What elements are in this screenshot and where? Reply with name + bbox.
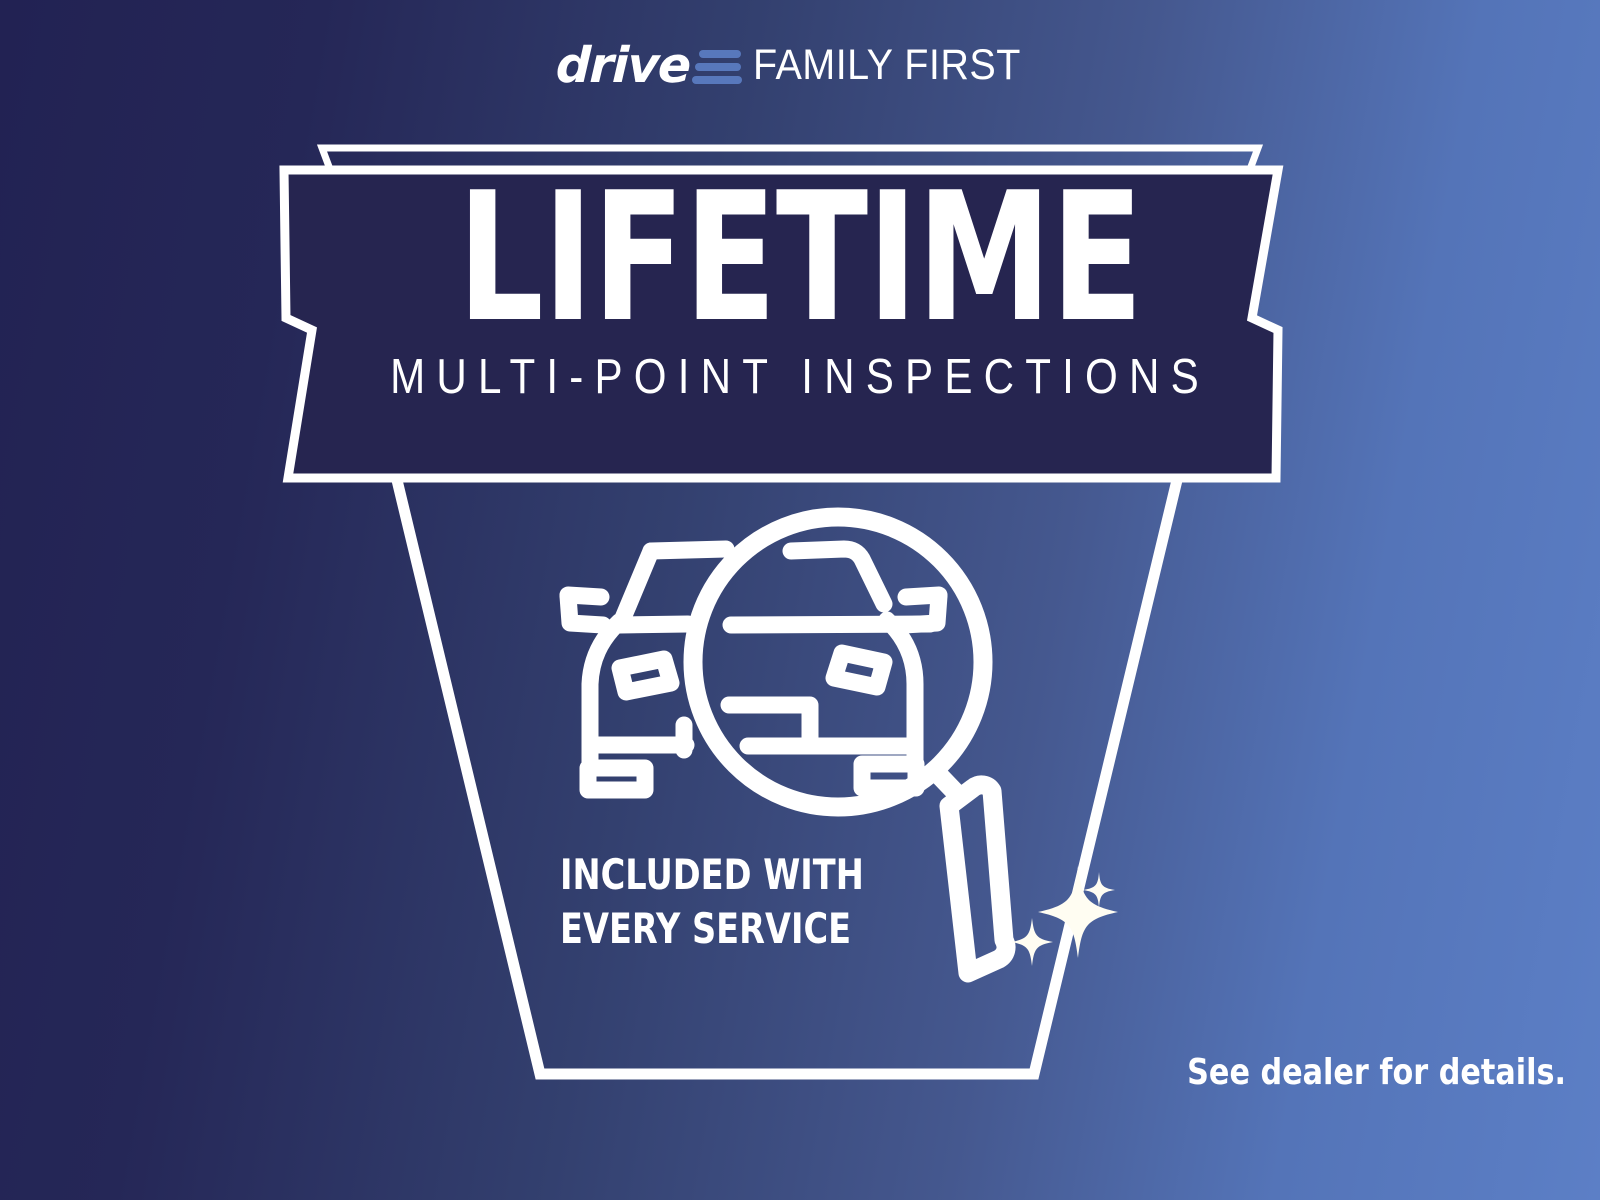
sparkle-large [1038,866,1118,958]
poster-artwork [0,0,1600,1200]
foreground-car-icon [729,549,939,788]
poster-canvas: drive FAMILY FIRST [0,0,1600,1200]
badge-caption: INCLUDED WITH EVERY SERVICE [560,848,864,956]
magnifier-grip-icon [949,785,1006,973]
disclaimer-text: See dealer for details. [1187,1052,1566,1093]
sparkle-small-left [1011,918,1053,966]
banner-ribbon [284,170,1278,478]
badge-trapezoid-frame [396,476,1178,1074]
